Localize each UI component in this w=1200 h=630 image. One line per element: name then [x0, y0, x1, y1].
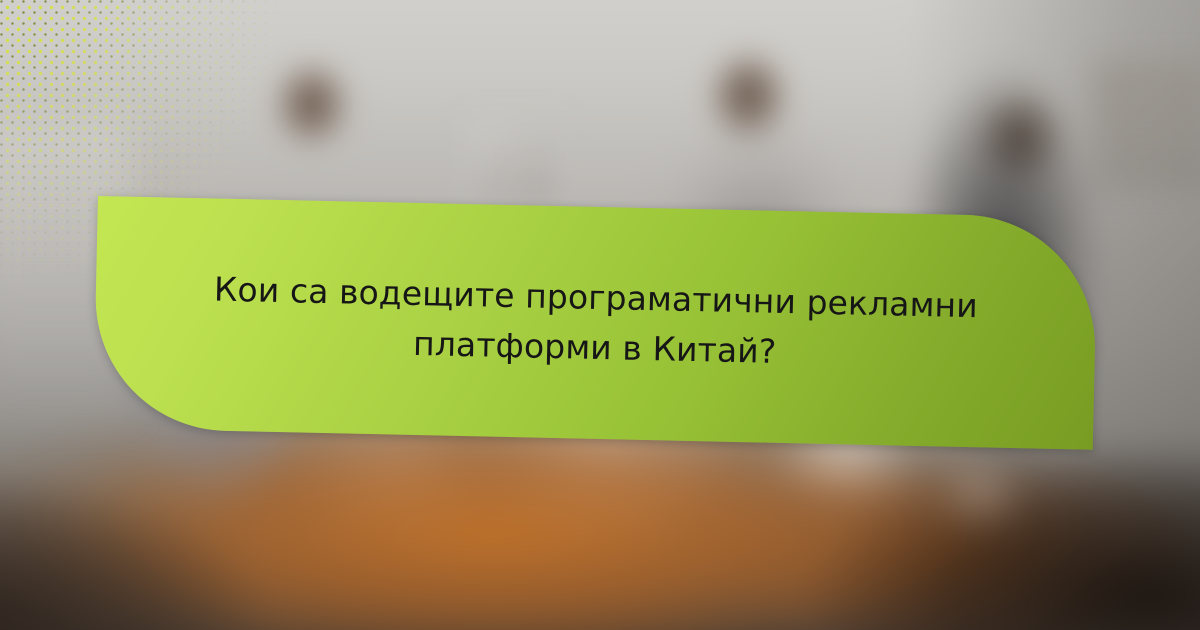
share-card-canvas: Кои са водещите програматични рекламни п…	[0, 0, 1200, 630]
background-shelf-blur	[1092, 60, 1200, 190]
headline-banner: Кои са водещите програматични рекламни п…	[93, 196, 1098, 450]
background-picture-frame	[470, 120, 558, 206]
headline-line-1: Кои са водещите програматични рекламни	[213, 264, 978, 331]
headline-text-block: Кои са водещите програматични рекламни п…	[93, 196, 1098, 450]
headline-line-2: платформи в Китай?	[413, 319, 777, 377]
